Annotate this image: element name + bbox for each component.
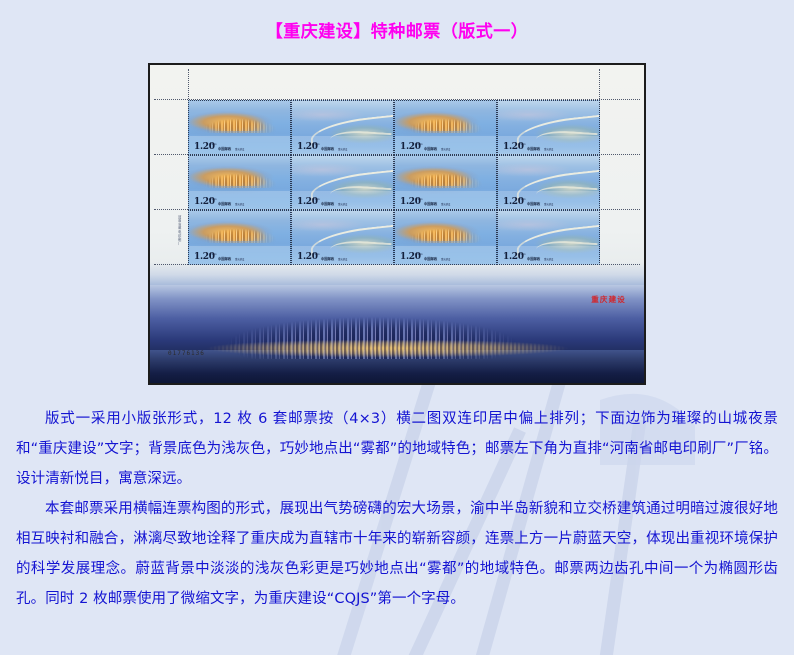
stamp-face-value: 1.20 [297, 198, 318, 207]
description-block: 版式一采用小版张形式，12 枚 6 套邮票按（4×3）横二图双连印居中偏上排列；… [16, 404, 778, 614]
stamp-face-value: 1.20 [194, 143, 215, 152]
stamp-face-value-row: 1.20 中国邮政 重庆建设 [297, 253, 348, 262]
stamp-cell: CHINA 1.20 中国邮政 重庆建设 [188, 210, 291, 265]
stamp-face-value: 1.20 [297, 143, 318, 152]
skyline-towers [203, 168, 272, 186]
stamp-designer-label: 重庆建设 [235, 150, 244, 152]
stamp-country-label: 中国邮政 [527, 149, 540, 152]
stamp-cell: CHINA 1.20 中国邮政 重庆建设 [291, 210, 394, 265]
stamp-grid: CHINA 1.20 中国邮政 重庆建设 CHINA 1.20 中国邮政 重庆建… [188, 100, 600, 265]
stamp-face-value: 1.20 [194, 253, 215, 262]
stamp-cell: CHINA 1.20 中国邮政 重庆建设 [188, 100, 291, 155]
stamp-designer-label: 重庆建设 [338, 205, 347, 207]
stamp-face-value: 1.20 [400, 198, 421, 207]
stamp-cell: CHINA 1.20 中国邮政 重庆建设 [497, 155, 600, 210]
stamp-face-value-row: 1.20 中国邮政 重庆建设 [400, 143, 451, 152]
stamp-face-value-row: 1.20 中国邮政 重庆建设 [400, 253, 451, 262]
description-paragraph-1: 版式一采用小版张形式，12 枚 6 套邮票按（4×3）横二图双连印居中偏上排列；… [16, 404, 778, 494]
stamp-designer-label: 重庆建设 [441, 205, 450, 207]
stamp-country-label: 中国邮政 [424, 149, 437, 152]
stamp-cell: CHINA 1.20 中国邮政 重庆建设 [497, 100, 600, 155]
stamp-face-value: 1.20 [194, 198, 215, 207]
stamp-face-value-row: 1.20 中国邮政 重庆建设 [400, 198, 451, 207]
stamp-cell: CHINA 1.20 中国邮政 重庆建设 [188, 155, 291, 210]
stamp-face-value-row: 1.20 中国邮政 重庆建设 [194, 253, 245, 262]
skyline-towers [203, 223, 272, 241]
skyline-towers [409, 168, 478, 186]
description-paragraph-2: 本套邮票采用横幅连票构图的形式，展现出气势磅礴的宏大场景，渝中半岛新貌和立交桥建… [16, 494, 778, 614]
stamp-country-label: 中国邮政 [218, 204, 231, 207]
stamp-face-value-row: 1.20 中国邮政 重庆建设 [503, 198, 554, 207]
stamp-face-value: 1.20 [503, 198, 524, 207]
stamp-face-value: 1.20 [503, 253, 524, 262]
stamp-country-label: 中国邮政 [321, 259, 334, 262]
night-cityscape-band: 重庆建设 01776136 [150, 285, 644, 383]
night-waterfront-lights [190, 340, 585, 362]
stamp-country-label: 中国邮政 [218, 149, 231, 152]
stamp-country-label: 中国邮政 [218, 259, 231, 262]
stamp-face-value: 1.20 [400, 143, 421, 152]
stamp-cell: CHINA 1.20 中国邮政 重庆建设 [497, 210, 600, 265]
stamp-country-label: 中国邮政 [321, 204, 334, 207]
stamp-face-value-row: 1.20 中国邮政 重庆建设 [297, 143, 348, 152]
stamp-designer-label: 重庆建设 [441, 150, 450, 152]
stamp-cell: CHINA 1.20 中国邮政 重庆建设 [291, 155, 394, 210]
selvage-rule-left [188, 69, 189, 99]
stamp-country-label: 中国邮政 [527, 204, 540, 207]
sheet-caption: 重庆建设 [591, 294, 626, 305]
stamp-designer-label: 重庆建设 [544, 150, 553, 152]
stamp-designer-label: 重庆建设 [338, 150, 347, 152]
stamp-face-value-row: 1.20 中国邮政 重庆建设 [194, 143, 245, 152]
stamp-sheet-image: 河南省邮电印刷厂 CHINA 1.20 中国邮政 重庆建设 CHINA [148, 63, 646, 385]
skyline-towers [203, 113, 272, 131]
stamp-cell: CHINA 1.20 中国邮政 重庆建设 [394, 210, 497, 265]
stamp-country-label: 中国邮政 [424, 204, 437, 207]
stamp-cell: CHINA 1.20 中国邮政 重庆建设 [394, 100, 497, 155]
stamp-face-value-row: 1.20 中国邮政 重庆建设 [297, 198, 348, 207]
stamp-designer-label: 重庆建设 [544, 205, 553, 207]
skyline-towers [409, 113, 478, 131]
stamp-cell: CHINA 1.20 中国邮政 重庆建设 [291, 100, 394, 155]
stamp-face-value: 1.20 [400, 253, 421, 262]
stamp-designer-label: 重庆建设 [441, 260, 450, 262]
stamp-sheet-inner: 河南省邮电印刷厂 CHINA 1.20 中国邮政 重庆建设 CHINA [150, 65, 644, 383]
stamp-designer-label: 重庆建设 [544, 260, 553, 262]
stamp-face-value-row: 1.20 中国邮政 重庆建设 [503, 143, 554, 152]
stamp-designer-label: 重庆建设 [235, 260, 244, 262]
stamp-country-label: 中国邮政 [321, 149, 334, 152]
stamp-cell: CHINA 1.20 中国邮政 重庆建设 [394, 155, 497, 210]
stamp-face-value: 1.20 [297, 253, 318, 262]
stamp-face-value-row: 1.20 中国邮政 重庆建设 [194, 198, 245, 207]
stamp-designer-label: 重庆建设 [338, 260, 347, 262]
sheet-serial-number: 01776136 [168, 350, 205, 357]
skyline-towers [409, 223, 478, 241]
stamp-country-label: 中国邮政 [527, 259, 540, 262]
page-title: 【重庆建设】特种邮票（版式一） [0, 17, 794, 42]
stamp-face-value: 1.20 [503, 143, 524, 152]
stamp-face-value-row: 1.20 中国邮政 重庆建设 [503, 253, 554, 262]
stamp-country-label: 中国邮政 [424, 259, 437, 262]
selvage-rule-right [599, 69, 600, 99]
stamp-designer-label: 重庆建设 [235, 205, 244, 207]
printer-imprint: 河南省邮电印刷厂 [177, 215, 180, 245]
